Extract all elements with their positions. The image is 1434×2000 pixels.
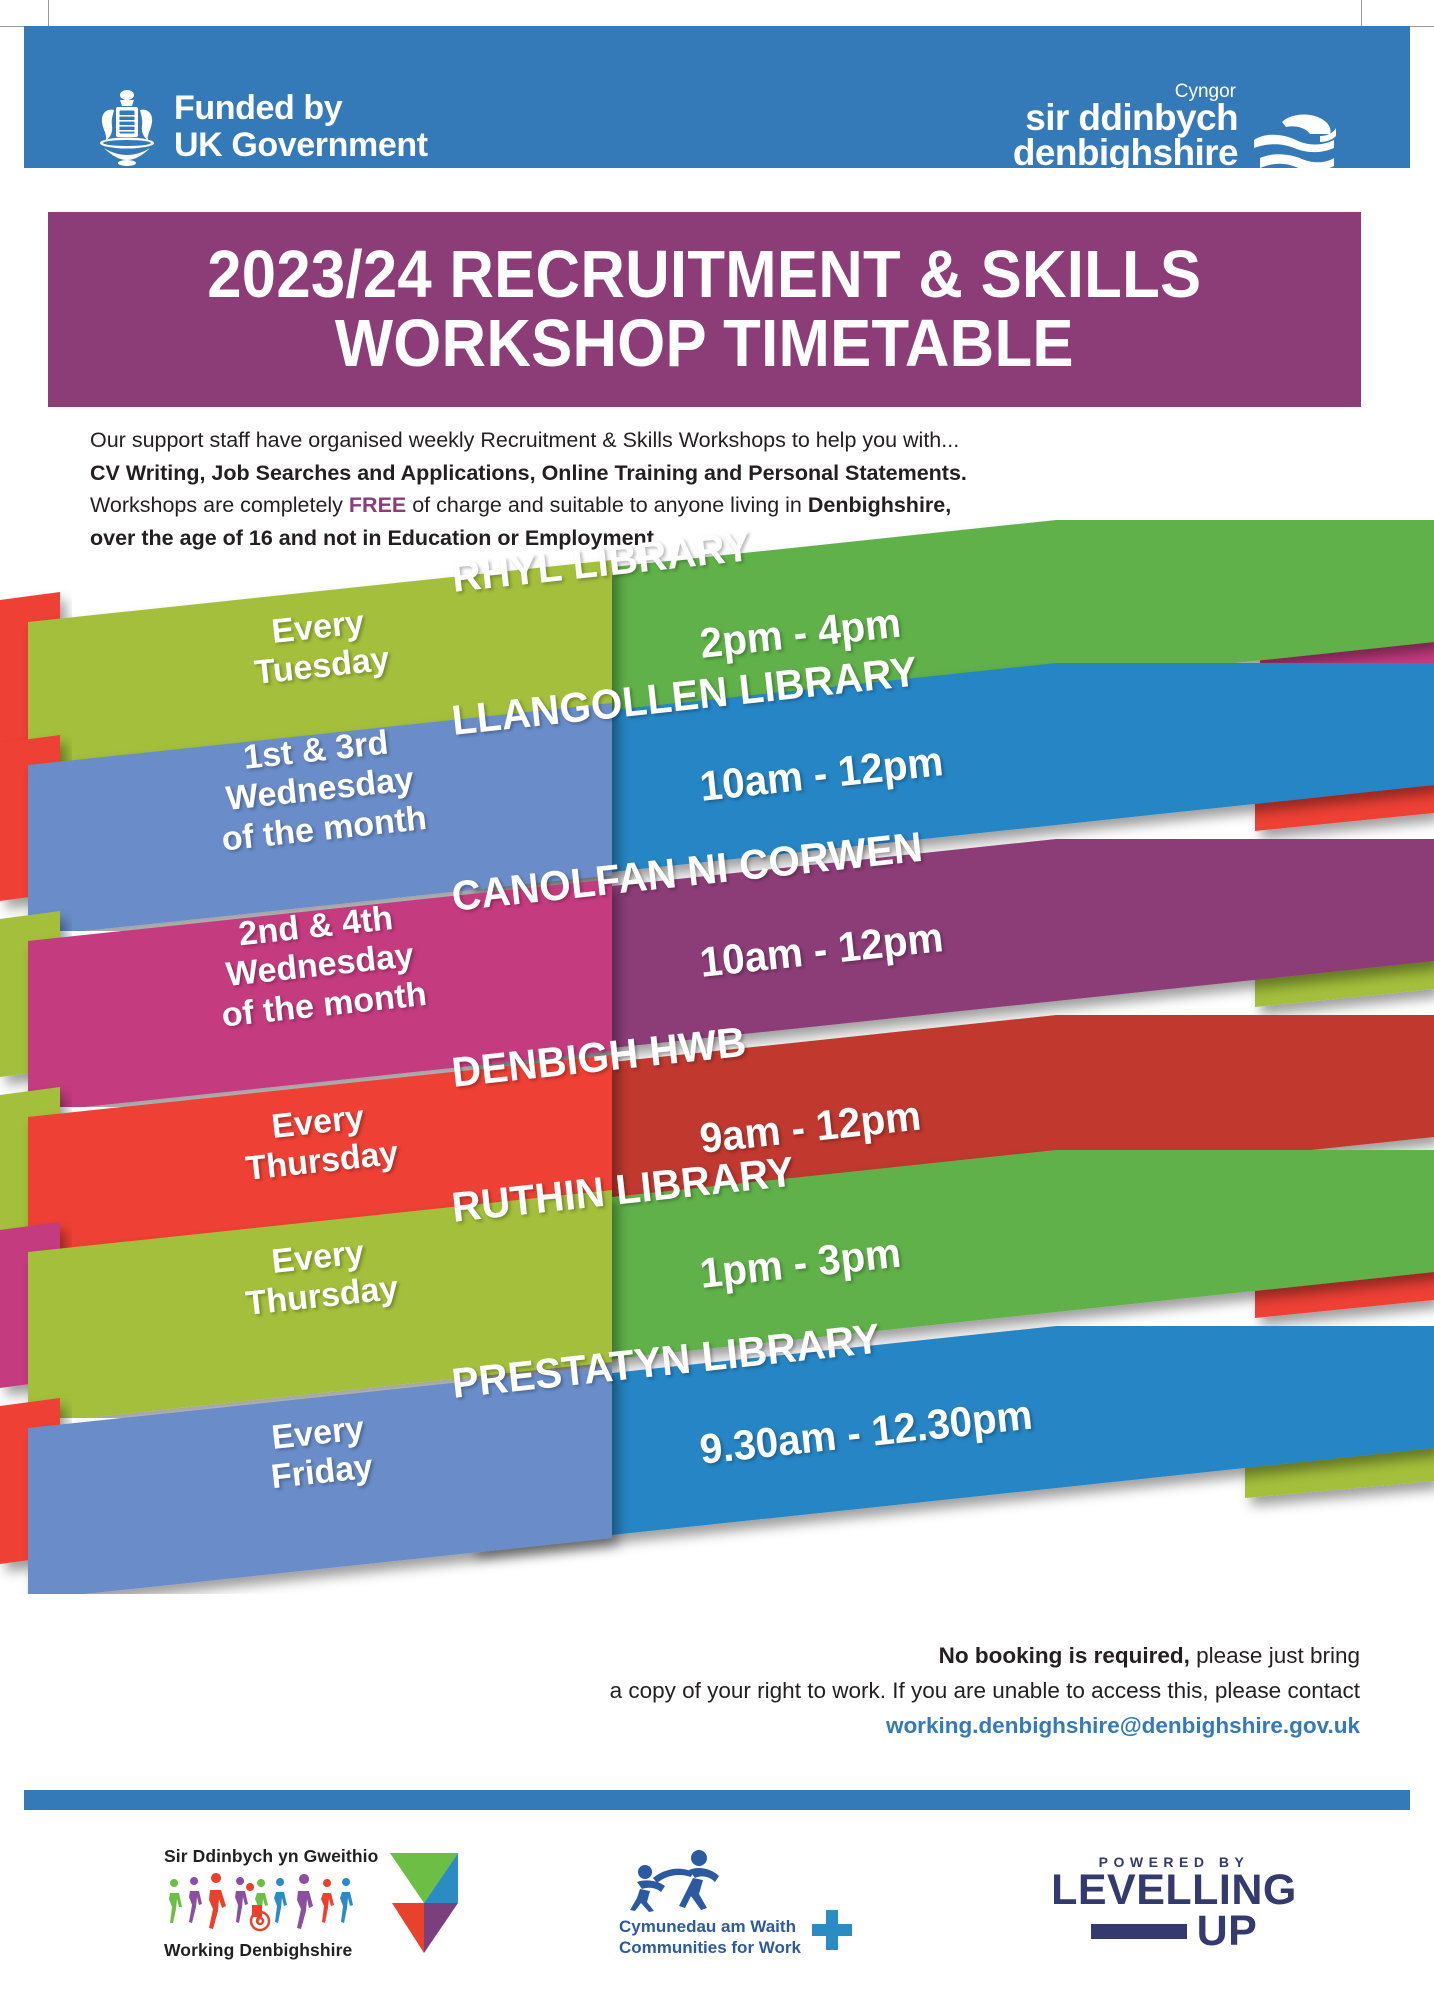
up-word: UP: [1197, 1911, 1258, 1952]
denbighshire-dragon-crest-icon: [1250, 106, 1336, 180]
booking-note-line-2: a copy of your right to work. If you are…: [300, 1673, 1360, 1708]
denbighshire-emphasis: Denbighshire,: [808, 493, 951, 517]
session-row-prestatyn[interactable]: Every Friday PRESTATYN LIBRARY 9.30am - …: [0, 1326, 1434, 1594]
royal-coat-of-arms-icon: [96, 86, 158, 168]
page-title: 2023/24 RECRUITMENT & SKILLS WORKSHOP TI…: [207, 241, 1201, 378]
uk-government-logo: Funded by UK Government: [96, 86, 428, 168]
intro-line-1: Our support staff have organised weekly …: [90, 424, 1270, 457]
intro-line-3-b: of charge and suitable to anyone living …: [406, 493, 808, 517]
booking-note: No booking is required, please just brin…: [300, 1638, 1360, 1743]
cfw-label: Cymunedau am Waith Communities for Work: [619, 1917, 801, 1957]
walking-people-icon: [164, 1869, 364, 1933]
booking-note-line-1-rest: please just bring: [1190, 1643, 1360, 1668]
council-name-welsh: sir ddinbych: [1013, 100, 1238, 135]
poster-canvas: Funded by UK Government Cyngor sir ddinb…: [0, 0, 1434, 2000]
funded-by-text: Funded by UK Government: [174, 90, 428, 163]
plus-icon: [811, 1908, 853, 1952]
council-name-english: denbighshire: [1013, 135, 1238, 170]
intro-line-3-a: Workshops are completely: [90, 493, 349, 517]
wd-welsh-label: Sir Ddinbych yn Gweithio: [164, 1846, 378, 1867]
intro-line-2: CV Writing, Job Searches and Application…: [90, 461, 967, 485]
intro-line-3: Workshops are completely FREE of charge …: [90, 489, 1270, 522]
council-wordmark: Cyngor sir ddinbych denbighshire County …: [1013, 84, 1238, 189]
free-emphasis: FREE: [349, 493, 406, 517]
communities-for-work-logo: Cymunedau am Waith Communities for Work: [619, 1848, 909, 1957]
title-banner: 2023/24 RECRUITMENT & SKILLS WORKSHOP TI…: [48, 212, 1361, 407]
levelling-up-logo: POWERED BY LEVELLING UP: [1049, 1854, 1299, 1952]
council-county-label: County Council: [1013, 173, 1238, 189]
council-cyngor-label: Cyngor: [1175, 82, 1236, 101]
levelling-word: LEVELLING: [1049, 1870, 1299, 1911]
no-booking-emphasis: No booking is required,: [939, 1643, 1190, 1668]
header-bar: Funded by UK Government Cyngor sir ddinb…: [24, 26, 1410, 168]
underline-dash-icon: [1091, 1924, 1187, 1939]
helping-hands-figures-icon: [619, 1848, 739, 1912]
contact-email[interactable]: working.denbighshire@denbighshire.gov.uk: [300, 1708, 1360, 1743]
denbighshire-council-logo: Cyngor sir ddinbych denbighshire County …: [1013, 84, 1336, 189]
timetable-ribbons: Every Tuesday RHYL LIBRARY 2pm - 4pm 1st…: [0, 520, 1434, 1610]
booking-note-line-1: No booking is required, please just brin…: [300, 1638, 1360, 1673]
wd-english-label: Working Denbighshire: [164, 1940, 378, 1961]
footer-rule: [24, 1790, 1410, 1810]
working-denbighshire-logo: Sir Ddinbych yn Gweithio: [164, 1846, 464, 1961]
four-colour-diamond-icon: [388, 1851, 460, 1955]
partner-logo-strip: Sir Ddinbych yn Gweithio: [24, 1828, 1410, 1978]
